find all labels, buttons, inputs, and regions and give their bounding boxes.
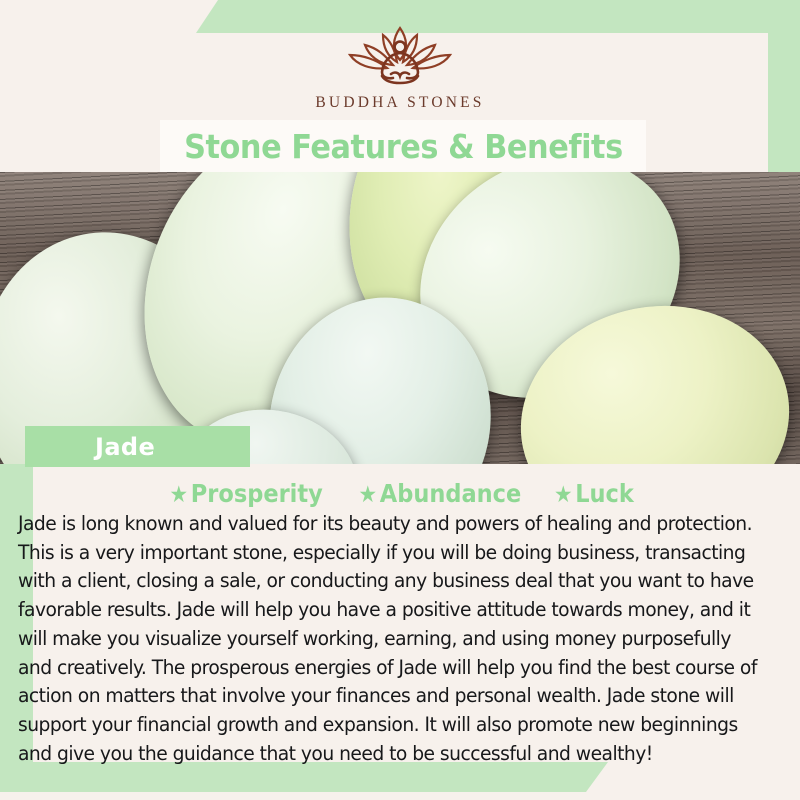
star-icon: ★ xyxy=(554,482,573,508)
description-paragraph: Jade is long known and valued for its be… xyxy=(18,510,763,768)
title-banner: Stone Features & Benefits xyxy=(160,120,646,173)
keyword-item-0: ★Prosperity xyxy=(170,479,323,508)
brand-wordmark: BUDDHA STONES xyxy=(0,94,800,112)
keyword-item-1: ★Abundance xyxy=(350,479,522,508)
brand-logo: BUDDHA STONES xyxy=(0,22,800,112)
keyword-label-0: Prosperity xyxy=(191,479,323,508)
keyword-item-2: ★Luck xyxy=(545,479,634,508)
stone-name-badge: Jade xyxy=(25,426,250,467)
poster-canvas: BUDDHA STONES Stone Features & Benefits … xyxy=(0,0,800,800)
stone-name-label: Jade xyxy=(95,433,155,461)
lotus-meditation-icon xyxy=(325,22,475,90)
benefit-keywords: ★Prosperity ★Abundance ★Luck xyxy=(0,479,800,508)
page-title: Stone Features & Benefits xyxy=(184,127,623,166)
stone-photo xyxy=(0,172,800,464)
star-icon: ★ xyxy=(170,482,189,508)
keyword-label-2: Luck xyxy=(575,479,634,508)
keyword-label-1: Abundance xyxy=(380,479,521,508)
star-icon: ★ xyxy=(359,482,378,508)
